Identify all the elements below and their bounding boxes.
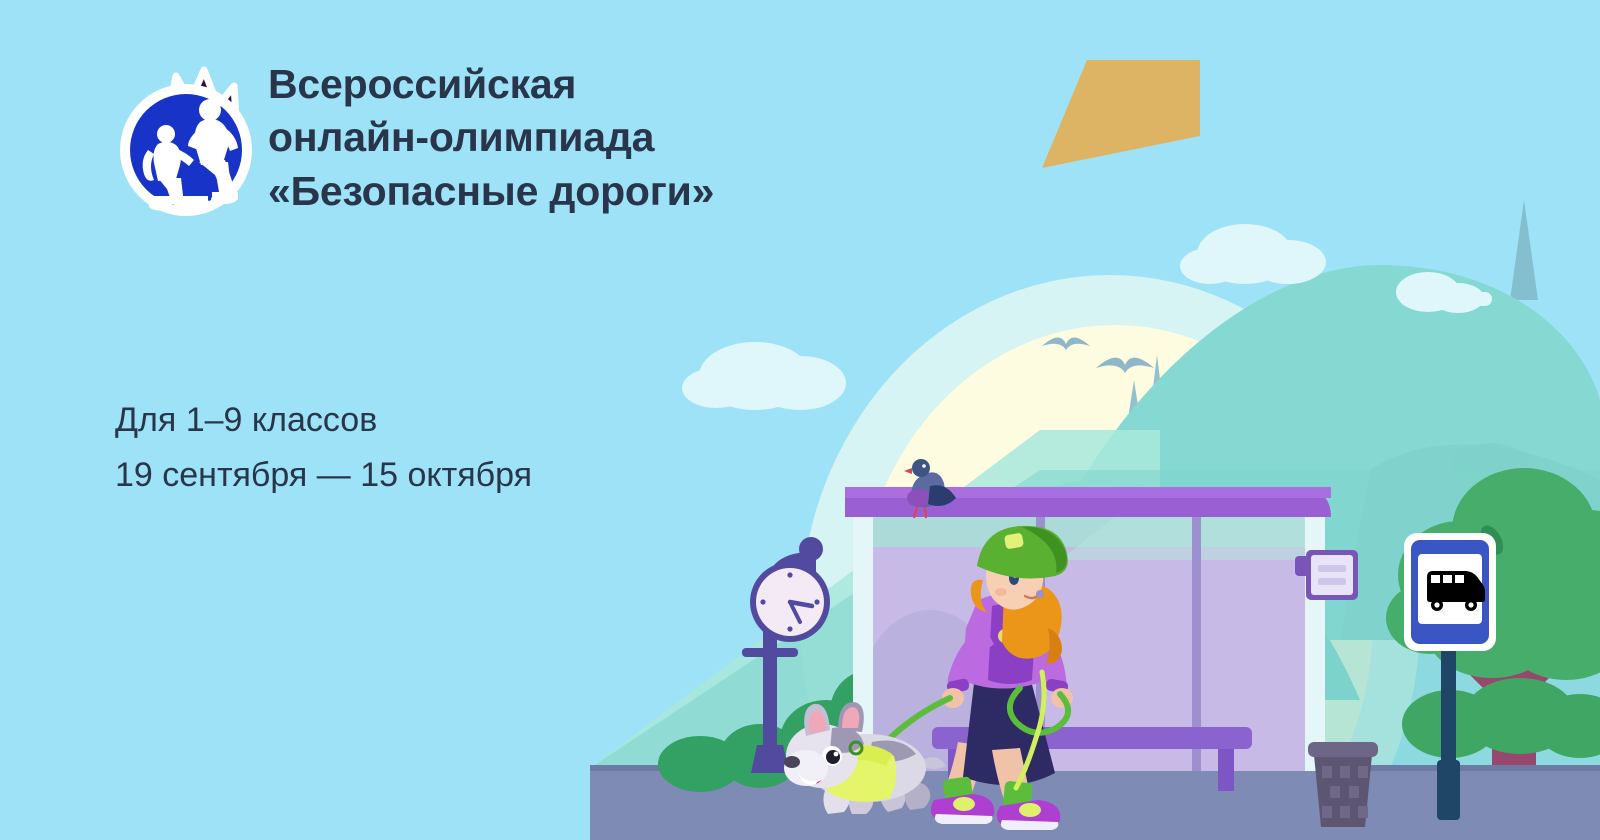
- national-projects-logo: НАЦИОНАЛЬНЫЕ ПРОЕКТЫ РОССИИ БЕЗОПАСНЫЕ К…: [1040, 58, 1600, 173]
- olympiad-logo-badge: [118, 62, 260, 228]
- title-line-2: онлайн-олимпиада: [268, 111, 908, 164]
- title-line-1: Всероссийская: [268, 58, 908, 111]
- dog-nose: [784, 756, 800, 768]
- girl-earring: [1036, 590, 1044, 598]
- post-finial: [799, 537, 823, 561]
- page-title: Всероссийская онлайн-олимпиада «Безопасн…: [268, 58, 908, 218]
- olympiad-promo-banner: Всероссийская онлайн-олимпиада «Безопасн…: [0, 0, 1600, 840]
- subtitle-dates: 19 сентября — 15 октября: [115, 448, 735, 503]
- title-line-3: «Безопасные дороги»: [268, 165, 908, 218]
- bus-shelter: [845, 487, 1331, 791]
- np-wedge-shape: [1040, 58, 1220, 173]
- subtitle-grades: Для 1–9 классов: [115, 393, 735, 448]
- subtitle-block: Для 1–9 классов 19 сентября — 15 октября: [115, 393, 735, 503]
